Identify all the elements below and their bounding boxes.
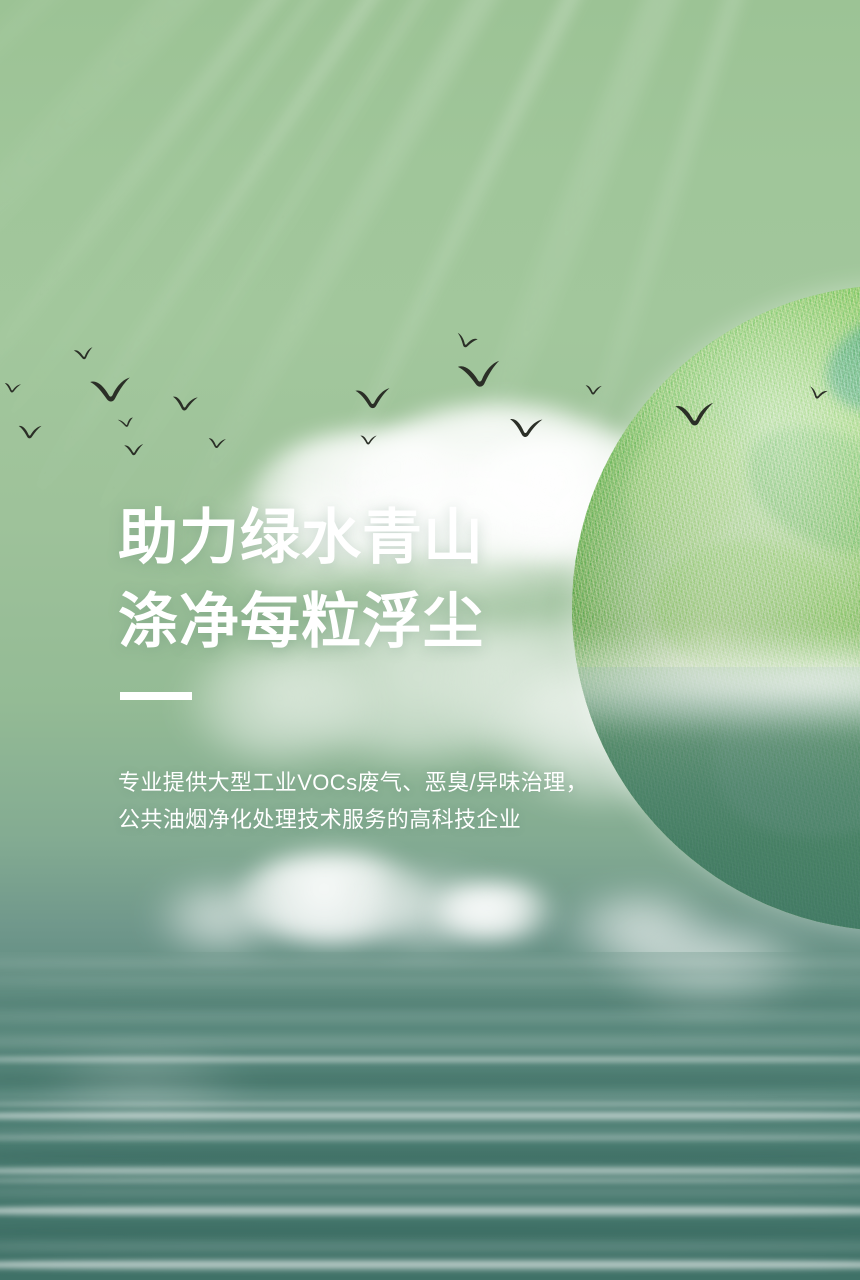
title-divider	[120, 692, 192, 700]
banner-content: 助力绿水青山 涤净每粒浮尘 专业提供大型工业VOCs废气、恶臭/异味治理， 公共…	[0, 0, 860, 1280]
banner-subtitle: 专业提供大型工业VOCs废气、恶臭/异味治理， 公共油烟净化处理技术服务的高科技…	[118, 764, 588, 838]
hero-banner: 助力绿水青山 涤净每粒浮尘 专业提供大型工业VOCs废气、恶臭/异味治理， 公共…	[0, 0, 860, 1280]
page-title: 助力绿水青山 涤净每粒浮尘	[118, 496, 484, 664]
headline-line-2: 涤净每粒浮尘	[118, 580, 484, 664]
headline-line-1: 助力绿水青山	[118, 496, 484, 580]
subtitle-line-1: 专业提供大型工业VOCs废气、恶臭/异味治理，	[118, 764, 588, 801]
subtitle-line-2: 公共油烟净化处理技术服务的高科技企业	[118, 801, 588, 838]
